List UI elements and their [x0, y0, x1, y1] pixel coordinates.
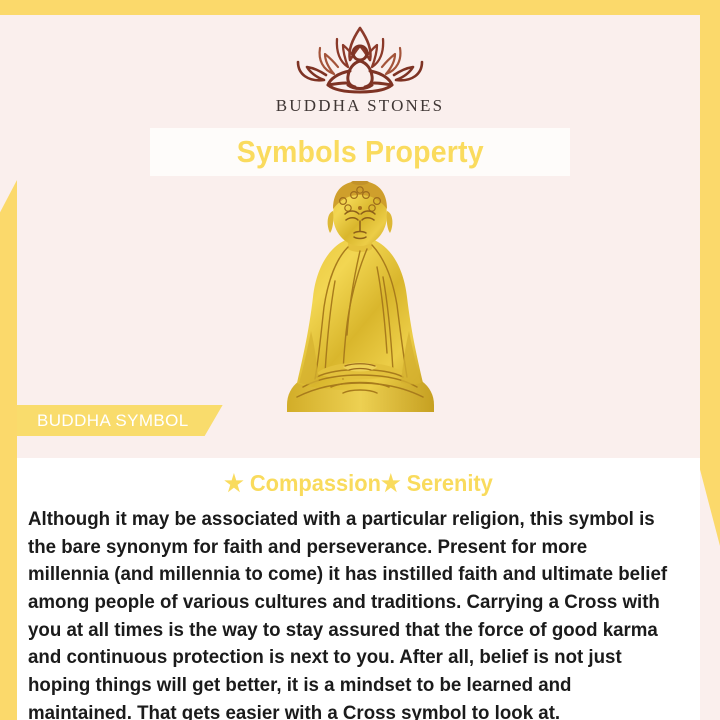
category-tag: BUDDHA SYMBOL [17, 405, 223, 436]
brand-logo: BUDDHA STONES [0, 22, 720, 116]
brand-name: BUDDHA STONES [0, 96, 720, 116]
seated-buddha-statue-icon [273, 181, 448, 413]
poster-root: BUDDHA STONES Symbols Property [0, 0, 720, 720]
title-banner: Symbols Property [150, 128, 570, 176]
category-tag-label: BUDDHA SYMBOL [37, 411, 189, 431]
content-subtitle: ★ Compassion★ Serenity [34, 470, 683, 497]
top-border-decoration [0, 0, 720, 15]
page-title: Symbols Property [236, 134, 483, 170]
lotus-meditation-icon [276, 22, 444, 94]
content-panel: ★ Compassion★ Serenity Although it may b… [17, 458, 700, 720]
buddha-figure [0, 178, 720, 413]
content-paragraph: Although it may be associated with a par… [28, 506, 672, 720]
